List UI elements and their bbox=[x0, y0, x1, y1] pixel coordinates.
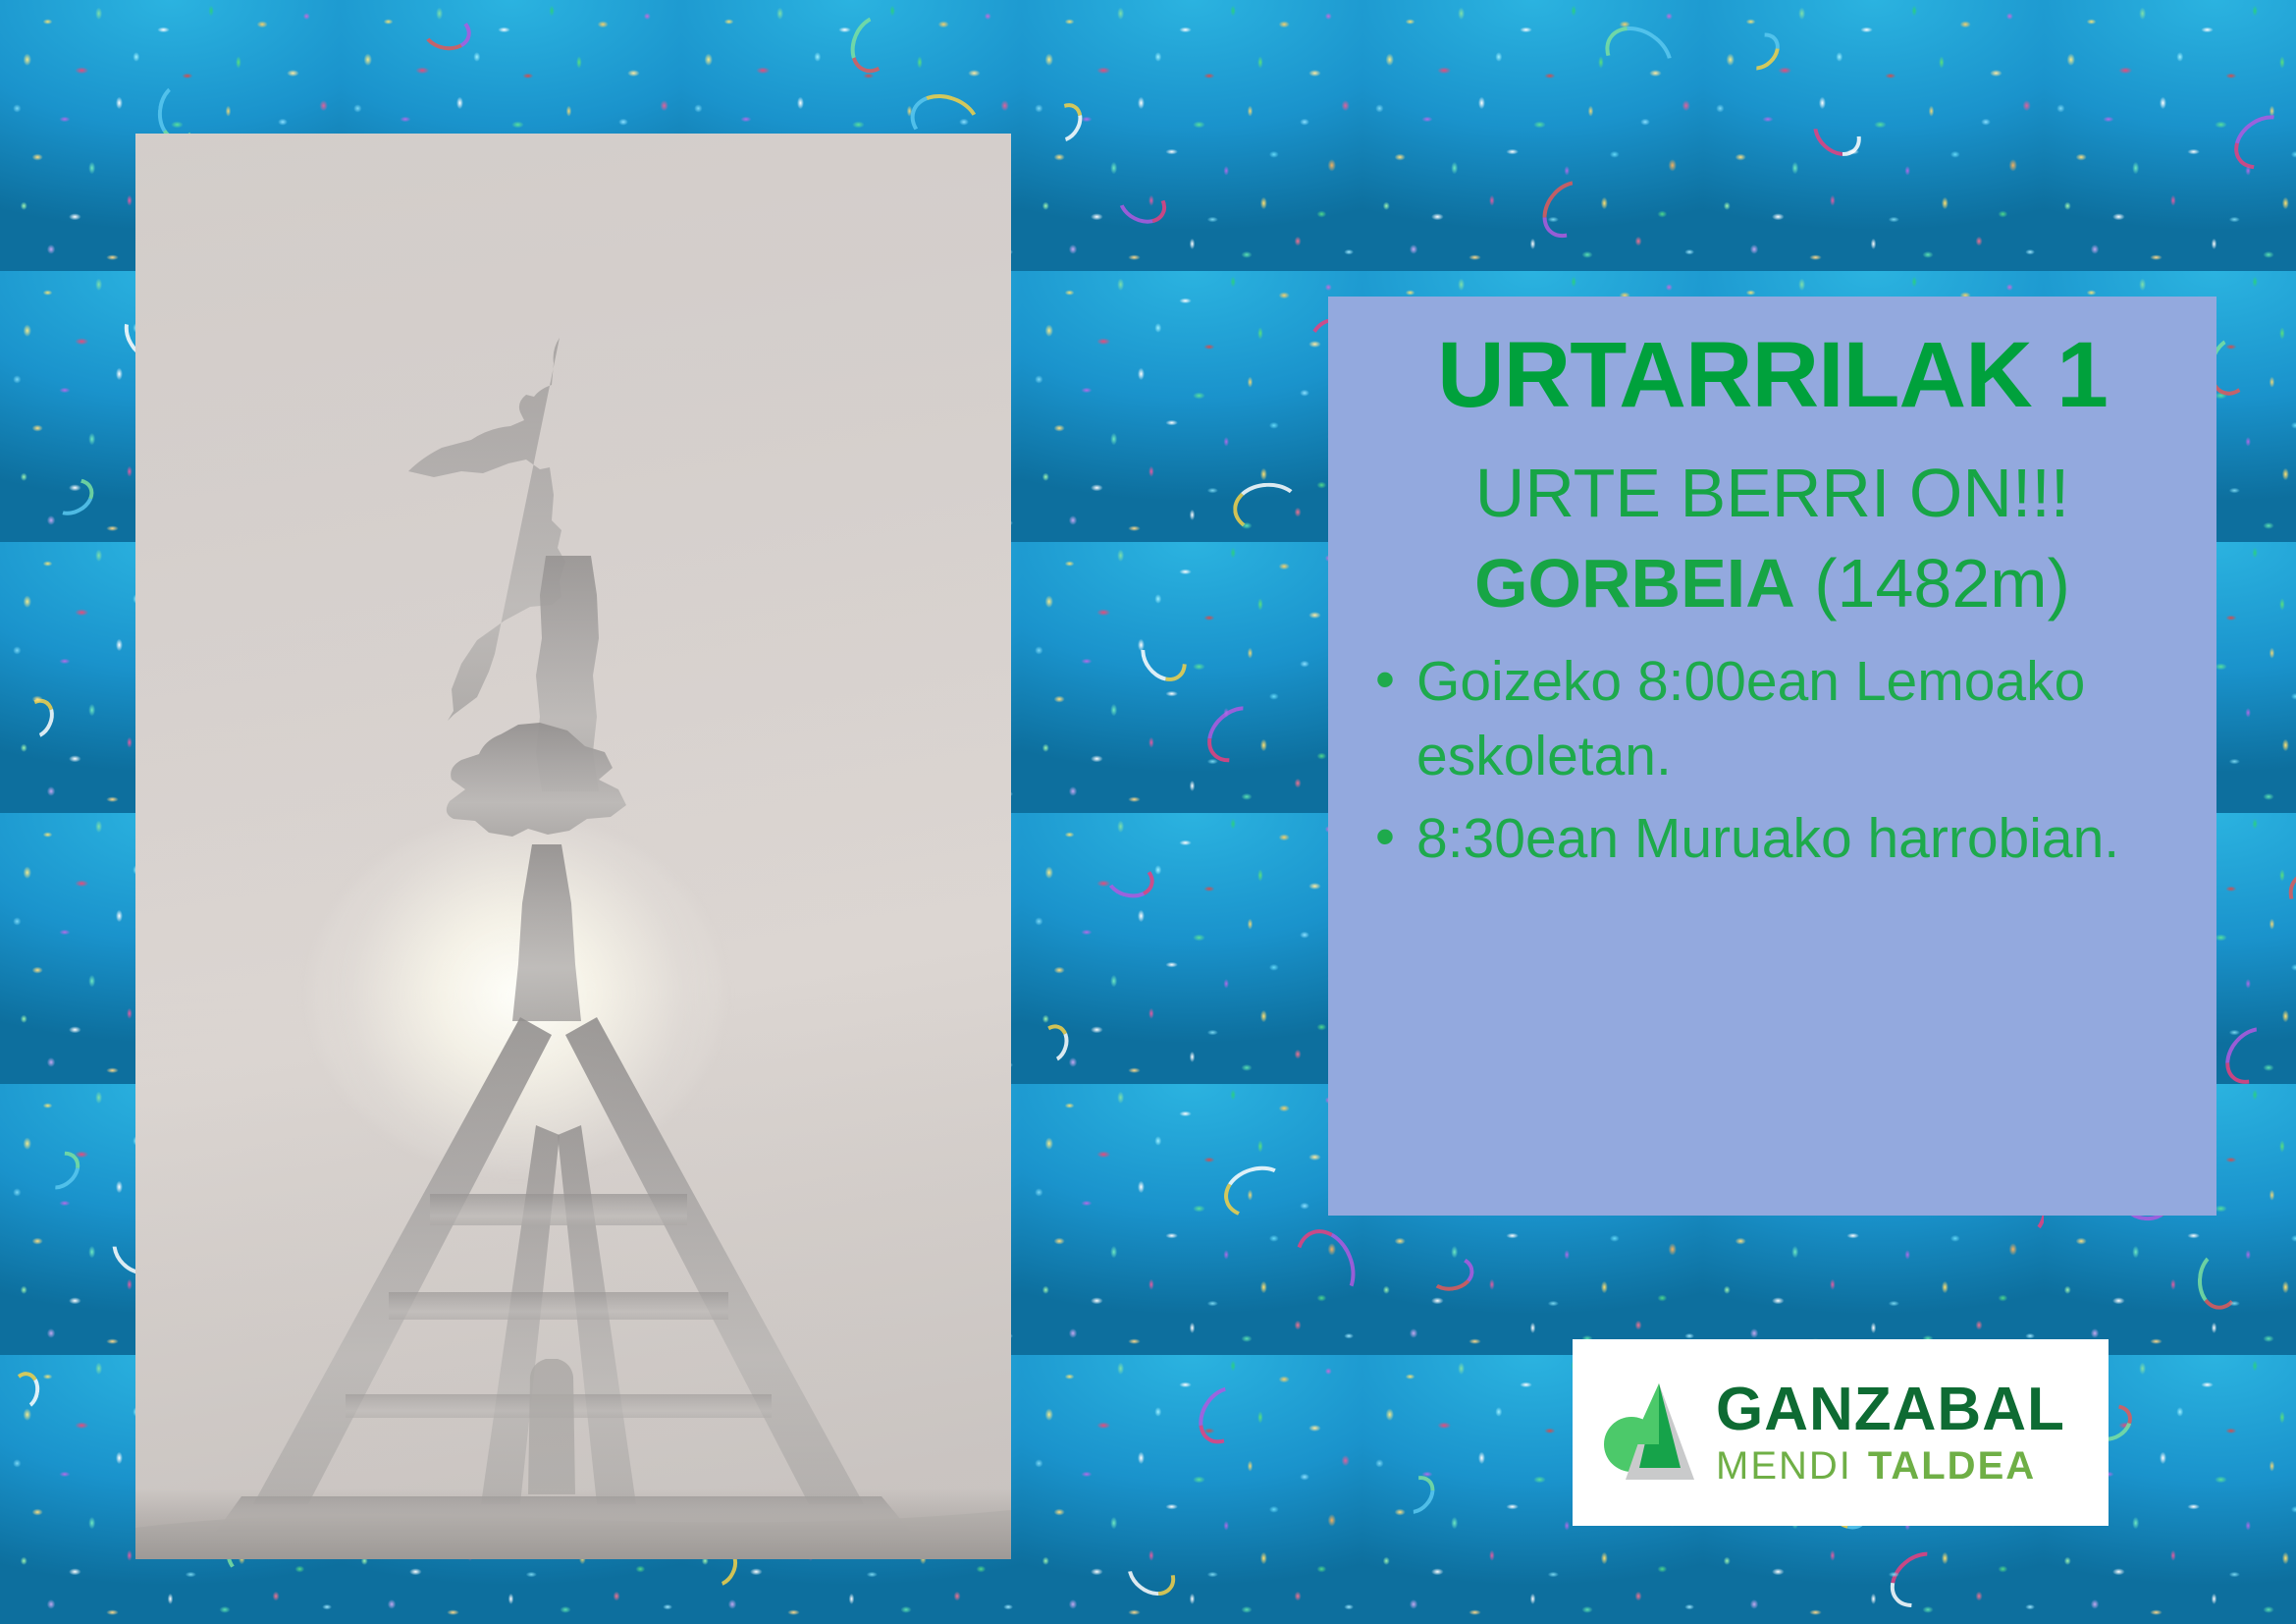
streamer bbox=[1804, 100, 1871, 166]
streamer bbox=[1531, 170, 1608, 248]
streamer bbox=[1033, 1020, 1074, 1067]
confetti-tile bbox=[2044, 0, 2296, 271]
streamer bbox=[1880, 1541, 1960, 1619]
brand-name: GANZABAL bbox=[1716, 1380, 2065, 1440]
streamer bbox=[1197, 695, 1276, 774]
confetti-tile bbox=[1022, 0, 1362, 271]
mountain-altitude: (1482m) bbox=[1814, 545, 2070, 622]
streamer bbox=[1285, 1220, 1362, 1313]
confetti-tile bbox=[1022, 1084, 1362, 1355]
meeting-points-list: Goizeko 8:00ean Lemoako eskoletan. 8:30e… bbox=[1362, 645, 2183, 876]
streamer bbox=[1119, 1542, 1184, 1604]
tagline-mendi: MENDI bbox=[1716, 1444, 1852, 1488]
fog-overlay bbox=[135, 134, 1011, 1559]
event-info-panel: URTARRILAK 1 URTE BERRI ON!!! GORBEIA (1… bbox=[1328, 297, 2216, 1216]
confetti-tile bbox=[1703, 0, 2044, 271]
streamer bbox=[2289, 170, 2296, 262]
brand-tagline: MENDITALDEA bbox=[1716, 1446, 2065, 1486]
streamer bbox=[44, 471, 100, 522]
streamer bbox=[15, 693, 60, 743]
event-poster: URTARRILAK 1 URTE BERRI ON!!! GORBEIA (1… bbox=[0, 0, 2296, 1624]
confetti-tile bbox=[1022, 542, 1362, 813]
mountain-name: GORBEIA bbox=[1474, 545, 1795, 622]
streamer bbox=[1232, 481, 1303, 536]
streamer bbox=[1594, 14, 1684, 99]
list-item: Goizeko 8:00ean Lemoako eskoletan. bbox=[1375, 645, 2177, 794]
streamer bbox=[7, 1369, 43, 1412]
streamer bbox=[419, 9, 474, 55]
page-title: URTARRILAK 1 bbox=[1362, 326, 2183, 425]
logo-wordmark: GANZABAL MENDITALDEA bbox=[1716, 1380, 2065, 1486]
streamer bbox=[2224, 104, 2296, 181]
streamer bbox=[2215, 1016, 2291, 1084]
streamer bbox=[2276, 858, 2296, 945]
streamer bbox=[1217, 1159, 1296, 1226]
streamer bbox=[1101, 855, 1158, 903]
streamer bbox=[1390, 1468, 1442, 1521]
tagline-taldea: TALDEA bbox=[1868, 1444, 2036, 1488]
streamer bbox=[842, 7, 907, 80]
streamer bbox=[32, 1144, 87, 1198]
streamer bbox=[1132, 623, 1197, 690]
club-logo-card: GANZABAL MENDITALDEA bbox=[1573, 1339, 2109, 1526]
streamer bbox=[1111, 175, 1173, 232]
confetti-tile bbox=[1022, 813, 1362, 1084]
list-item: 8:30ean Muruako harrobian. bbox=[1375, 802, 2177, 877]
confetti-tile bbox=[1022, 271, 1362, 542]
mountain-line: GORBEIA (1482m) bbox=[1362, 545, 2183, 622]
confetti-tile bbox=[1022, 1355, 1362, 1624]
mountain-tree-logo-icon bbox=[1600, 1374, 1702, 1491]
gorbeia-summit-cross-photo bbox=[135, 134, 1011, 1559]
streamer bbox=[1425, 1252, 1476, 1294]
snow-ground bbox=[135, 1489, 1011, 1559]
confetti-tile bbox=[1362, 0, 1703, 271]
streamer bbox=[1041, 97, 1090, 148]
streamer bbox=[1735, 26, 1788, 78]
streamer bbox=[2196, 1250, 2243, 1311]
new-year-greeting: URTE BERRI ON!!! bbox=[1362, 455, 2183, 531]
streamer bbox=[1189, 1377, 1261, 1453]
